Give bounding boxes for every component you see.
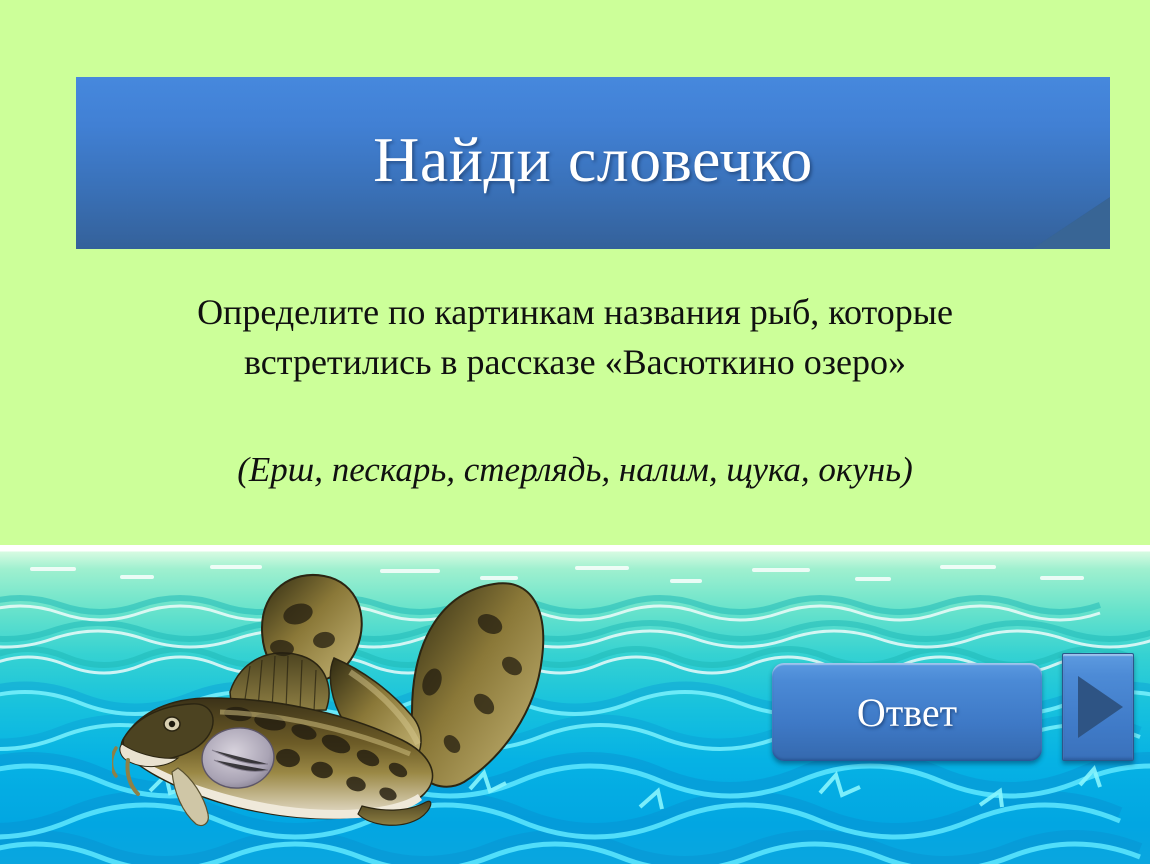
next-slide-button[interactable]	[1062, 653, 1134, 761]
instruction-text: Определите по картинкам названия рыб, ко…	[120, 288, 1030, 387]
title-banner: Найди словечко	[76, 77, 1110, 249]
answer-list-text: (Ерш, пескарь, стерлядь, налим, щука, ок…	[120, 447, 1030, 493]
burbot-fish-illustration	[112, 562, 552, 844]
play-triangle-icon	[1078, 676, 1123, 738]
answer-button[interactable]: Ответ	[772, 663, 1042, 761]
presentation-slide: Найди словечко Определите по картинкам н…	[0, 0, 1150, 864]
page-title: Найди словечко	[76, 77, 1110, 249]
